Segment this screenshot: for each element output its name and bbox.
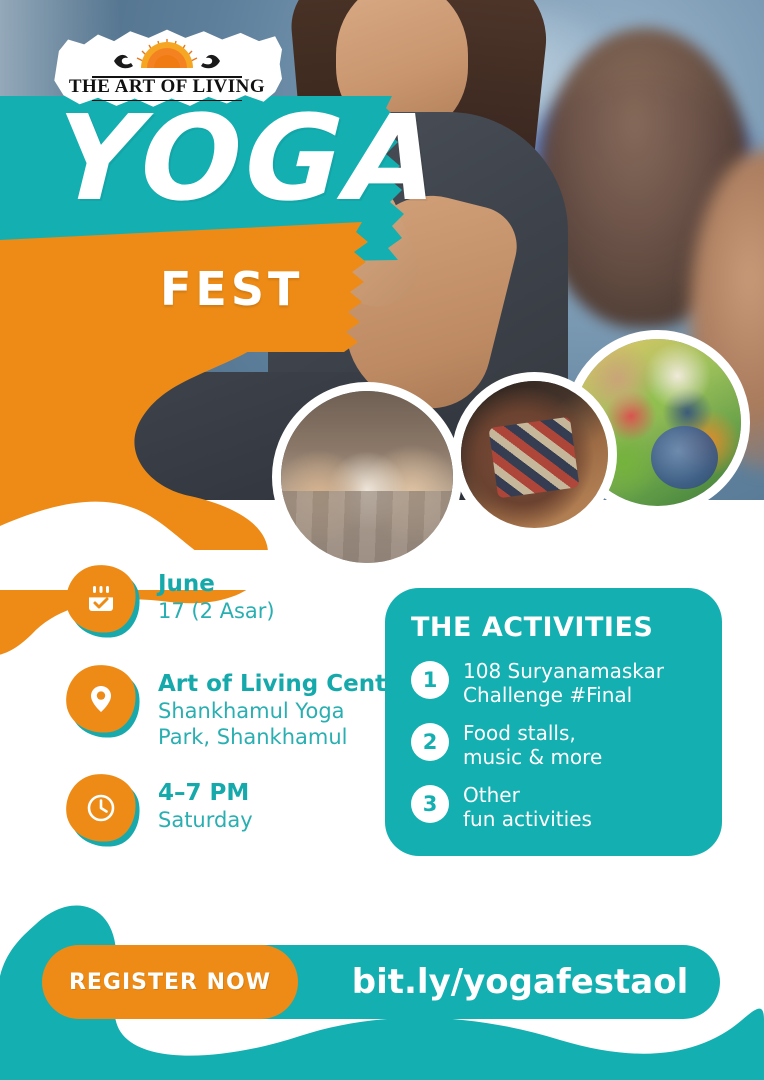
activities-heading: THE ACTIVITIES [411, 612, 700, 643]
activity-line2: music & more [463, 745, 602, 769]
page-subtitle: FEST [160, 262, 303, 316]
poster-root: THE ART OF LIVING YOGA FEST [0, 0, 764, 1080]
activity-line1: Other [463, 783, 592, 807]
activities-panel: THE ACTIVITIES 1 108 Suryanamaskar Chall… [385, 588, 722, 856]
activity-line2: Challenge #Final [463, 683, 664, 707]
detail-date-month: June [158, 571, 275, 598]
detail-time-day: Saturday [158, 807, 253, 833]
clock-icon [66, 774, 142, 850]
detail-time-range: 4–7 PM [158, 780, 253, 807]
detail-row-date: June 17 (2 Asar) [66, 565, 376, 641]
activity-line1: Food stalls, [463, 721, 602, 745]
circle-photo-board-game [452, 372, 617, 537]
circle-photo-yoga-class [272, 382, 462, 572]
registration-url[interactable]: bit.ly/yogafestaol [330, 945, 710, 1019]
calendar-icon [66, 565, 142, 641]
sun-with-swans-logo-icon [108, 37, 226, 75]
event-details: June 17 (2 Asar) Art of Living Center Sh… [66, 565, 376, 874]
activity-item: 2 Food stalls, music & more [411, 721, 700, 769]
detail-row-location: Art of Living Center Shankhamul Yoga Par… [66, 665, 376, 750]
location-pin-icon [66, 665, 142, 741]
activity-item: 3 Other fun activities [411, 783, 700, 831]
detail-venue-line1: Shankhamul Yoga [158, 698, 413, 724]
detail-venue-line2: Park, Shankhamul [158, 724, 413, 750]
activity-number: 1 [411, 661, 449, 699]
detail-date-day: 17 (2 Asar) [158, 598, 275, 624]
activity-line1: 108 Suryanamaskar [463, 659, 664, 683]
detail-row-time: 4–7 PM Saturday [66, 774, 376, 850]
activity-number: 2 [411, 723, 449, 761]
detail-venue-name: Art of Living Center [158, 671, 413, 698]
activity-item: 1 108 Suryanamaskar Challenge #Final [411, 659, 700, 707]
page-title: YOGA [53, 105, 444, 211]
activity-line2: fun activities [463, 807, 592, 831]
activity-number: 3 [411, 785, 449, 823]
register-now-button[interactable]: REGISTER NOW [42, 945, 298, 1019]
